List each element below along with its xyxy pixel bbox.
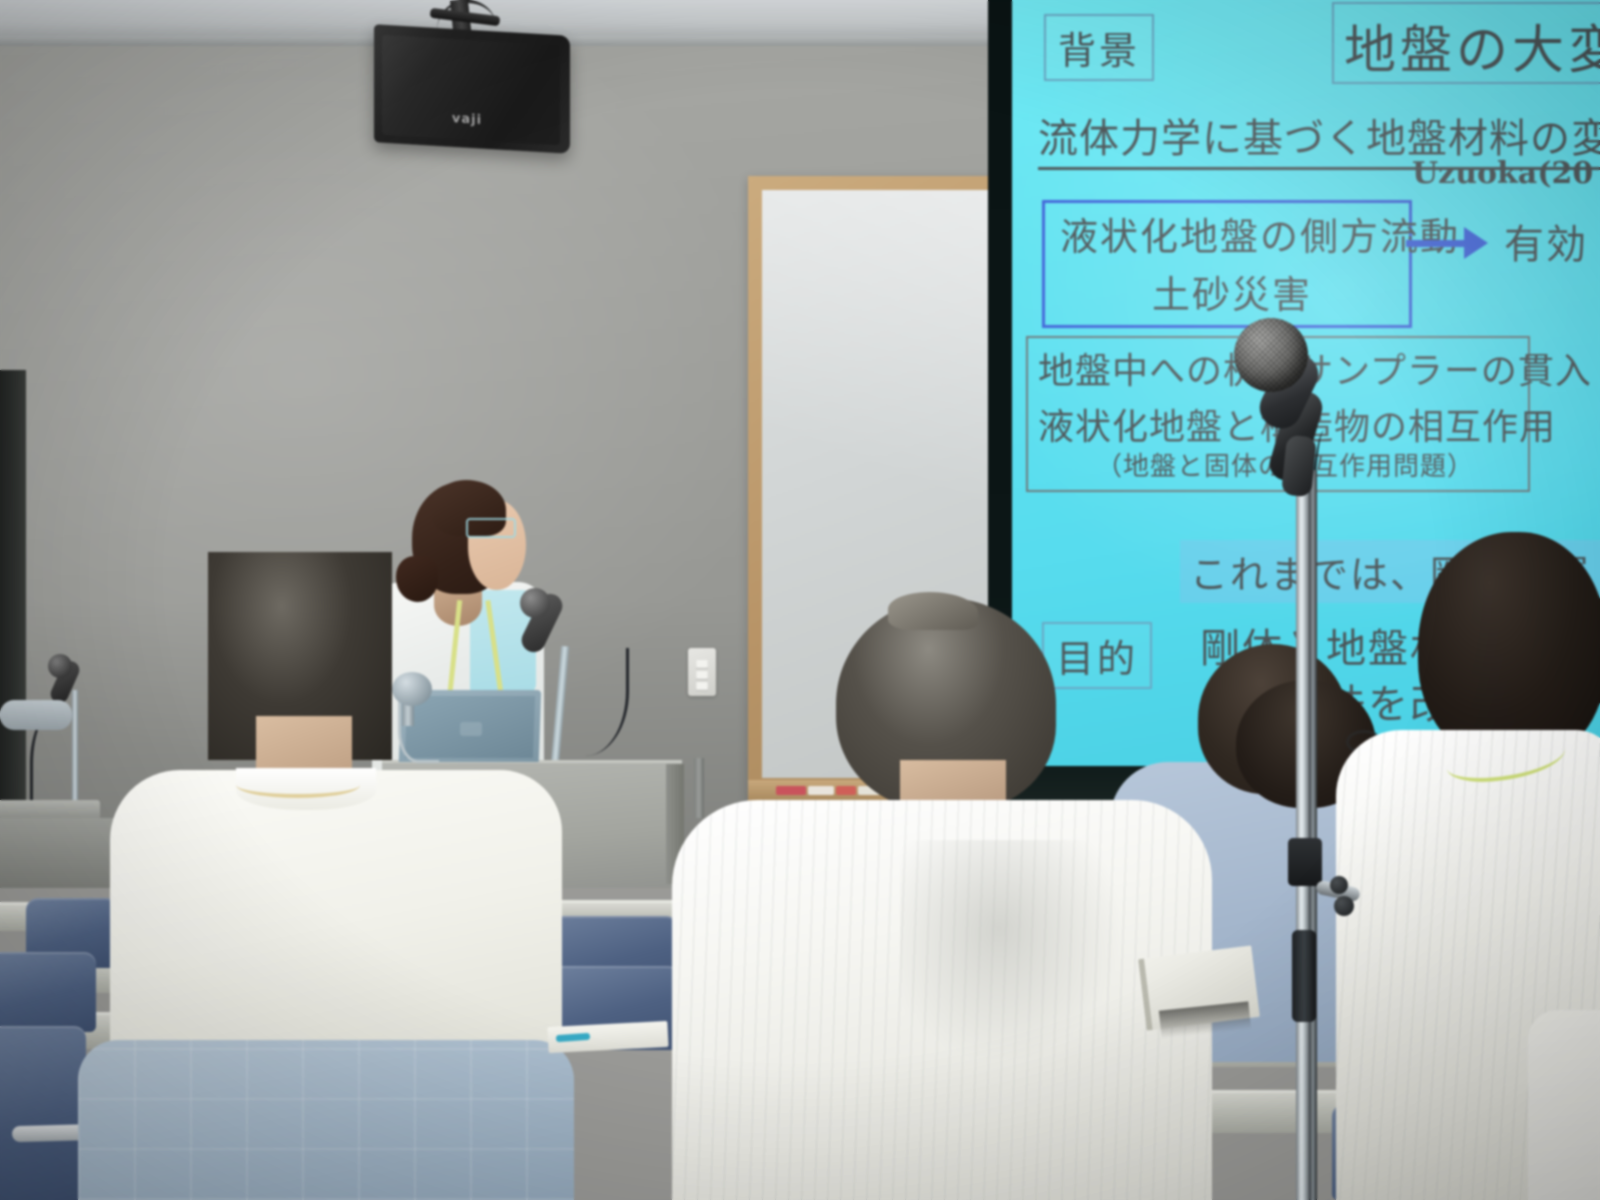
audience-right-front-head [1418,532,1600,762]
dark-board-panel [0,370,26,840]
slide-citation: Uzuoka(20 [1412,156,1593,191]
floor-mic-pole-shadow [1309,470,1317,1200]
floor-mic-knob-ball-upper[interactable] [1330,876,1348,894]
left-desk-arm [0,700,72,730]
slide-arrow-head [1464,227,1488,259]
light-switch-button-2[interactable] [696,671,708,680]
audience-center-shirt-shade [900,840,1120,1060]
audience-front-left-lanyard [236,772,360,798]
audience-center-hair [888,592,978,630]
presenter-glasses [466,518,516,538]
speaker-logo: vaji [440,110,494,129]
left-desk-body [0,818,122,888]
slide-arrow-shaft [1406,240,1468,247]
light-switch-button-3[interactable] [696,682,708,691]
marker-red-2 [836,786,856,795]
podium-mic-head[interactable] [520,588,550,618]
chair-back-left-2[interactable] [0,952,96,1032]
floor-mic-grip[interactable] [1292,930,1316,1022]
audience-far-right-shoulder [1528,1010,1600,1200]
marker-red [776,786,806,795]
floor-mic-clamp[interactable] [1288,838,1322,886]
floor-mic-grille [1234,318,1308,392]
slide-header-label: 背景 [1044,14,1154,81]
speaker-grille [382,35,560,146]
marker-white [808,786,834,795]
document-camera-head[interactable] [392,672,432,706]
wall-rail [694,758,704,818]
chair-front-left[interactable] [0,1026,86,1200]
left-mic-stand[interactable] [72,690,78,802]
slide-header-title: 地盤の大変 [1344,8,1600,83]
slide-arrow-target: 有効 [1504,212,1588,270]
left-mic-head[interactable] [48,654,72,678]
lecture-room-photo: vaji 背景 地盤の大変 流体力学に基づく地盤材料の変形解 Uzuoka(20… [0,0,1600,1200]
slide-purpose-label: 目的 [1042,622,1152,689]
light-switch-button-1[interactable] [696,660,708,669]
laptop-logo [460,722,482,736]
slide-blue-box-line2: 土砂災害 [1152,264,1312,319]
floor-mic-knob-ball-lower[interactable] [1334,896,1354,916]
floor-mic-pole[interactable] [1296,470,1309,1200]
presenter-ponytail [396,556,438,602]
audience-front-left-plaid [78,1040,574,1200]
slide-blue-box-line1: 液状化地盤の側方流動 [1060,206,1460,261]
